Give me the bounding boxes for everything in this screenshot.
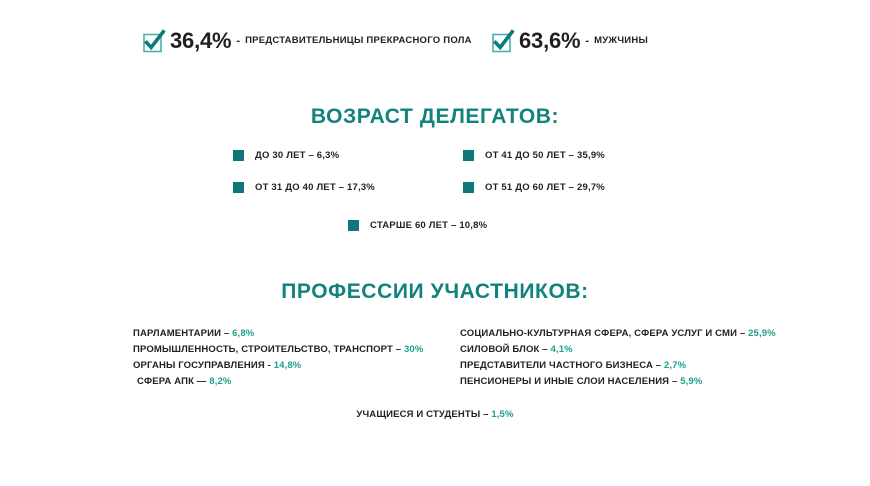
professions-column-right: СОЦИАЛЬНО-КУЛЬТУРНАЯ СФЕРА, СФЕРА УСЛУГ … [460,326,776,390]
section-heading-professions: ПРОФЕССИИ УЧАСТНИКОВ: [0,281,870,302]
profession-list-item: ПРОМЫШЛЕННОСТЬ, СТРОИТЕЛЬСТВО, ТРАНСПОРТ… [133,342,423,358]
bullet-square-icon [233,150,244,161]
bullet-square-icon [348,220,359,231]
checkbox-checked-icon [143,31,164,52]
age-item-label: СТАРШЕ 60 ЛЕТ – 10,8% [370,221,487,231]
gender-item-men: 63,6% - МУЖЧИНЫ [492,30,648,52]
gender-item-women: 36,4% - ПРЕДСТАВИТЕЛЬНИЦЫ ПРЕКРАСНОГО ПО… [143,30,472,52]
age-list-item: ОТ 41 ДО 50 ЛЕТ – 35,9% [463,150,605,161]
profession-list-item: ПРЕДСТАВИТЕЛИ ЧАСТНОГО БИЗНЕСА – 2,7% [460,358,776,374]
profession-name: СИЛОВОЙ БЛОК – [460,344,548,355]
gender-dash-men: - [585,36,589,47]
profession-name: ПЕНСИОНЕРЫ И ИНЫЕ СЛОИ НАСЕЛЕНИЯ – [460,376,677,387]
gender-label-women: ПРЕДСТАВИТЕЛЬНИЦЫ ПРЕКРАСНОГО ПОЛА [245,36,472,46]
age-list-item: СТАРШЕ 60 ЛЕТ – 10,8% [348,220,487,231]
profession-list-item: СОЦИАЛЬНО-КУЛЬТУРНАЯ СФЕРА, СФЕРА УСЛУГ … [460,326,776,342]
gender-dash-women: - [236,36,240,47]
profession-name: ПАРЛАМЕНТАРИИ – [133,328,229,339]
infographic-slide: 36,4% - ПРЕДСТАВИТЕЛЬНИЦЫ ПРЕКРАСНОГО ПО… [0,0,870,486]
gender-percent-men: 63,6% [519,30,580,52]
checkbox-checked-icon [492,31,513,52]
profession-value: 14,8% [274,360,302,371]
profession-value: 1,5% [491,409,513,420]
age-item-label: ОТ 51 ДО 60 ЛЕТ – 29,7% [485,183,605,193]
profession-name: УЧАЩИЕСЯ И СТУДЕНТЫ – [356,409,488,420]
age-distribution-list: ДО 30 ЛЕТ – 6,3% ОТ 31 ДО 40 ЛЕТ – 17,3%… [0,146,870,246]
age-item-label: ДО 30 ЛЕТ – 6,3% [255,151,339,161]
profession-value: 4,1% [551,344,573,355]
age-list-item: ОТ 51 ДО 60 ЛЕТ – 29,7% [463,182,605,193]
age-list-item: ДО 30 ЛЕТ – 6,3% [233,150,339,161]
age-item-label: ОТ 41 ДО 50 ЛЕТ – 35,9% [485,151,605,161]
profession-value: 30% [404,344,423,355]
profession-value: 25,9% [748,328,776,339]
profession-name: ПРЕДСТАВИТЕЛИ ЧАСТНОГО БИЗНЕСА – [460,360,661,371]
profession-name: СОЦИАЛЬНО-КУЛЬТУРНАЯ СФЕРА, СФЕРА УСЛУГ … [460,328,745,339]
gender-percent-women: 36,4% [170,30,231,52]
bullet-square-icon [233,182,244,193]
professions-centered-row: УЧАЩИЕСЯ И СТУДЕНТЫ – 1,5% [0,404,870,423]
professions-column-left: ПАРЛАМЕНТАРИИ – 6,8% ПРОМЫШЛЕННОСТЬ, СТР… [133,326,423,390]
profession-value: 8,2% [209,376,231,387]
profession-value: 2,7% [664,360,686,371]
profession-list-item: УЧАЩИЕСЯ И СТУДЕНТЫ – 1,5% [356,407,513,423]
professions-list: ПАРЛАМЕНТАРИИ – 6,8% ПРОМЫШЛЕННОСТЬ, СТР… [0,326,870,426]
age-list-item: ОТ 31 ДО 40 ЛЕТ – 17,3% [233,182,375,193]
profession-value: 5,9% [680,376,702,387]
profession-list-item: ОРГАНЫ ГОСУПРАВЛЕНИЯ - 14,8% [133,358,423,374]
profession-list-item: ПЕНСИОНЕРЫ И ИНЫЕ СЛОИ НАСЕЛЕНИЯ – 5,9% [460,374,776,390]
gender-label-men: МУЖЧИНЫ [594,36,648,46]
profession-list-item: СФЕРА АПК — 8,2% [133,374,423,390]
profession-value: 6,8% [232,328,254,339]
age-item-label: ОТ 31 ДО 40 ЛЕТ – 17,3% [255,183,375,193]
profession-name: ОРГАНЫ ГОСУПРАВЛЕНИЯ - [133,360,271,371]
profession-name: СФЕРА АПК — [137,376,206,387]
profession-list-item: ПАРЛАМЕНТАРИИ – 6,8% [133,326,423,342]
profession-name: ПРОМЫШЛЕННОСТЬ, СТРОИТЕЛЬСТВО, ТРАНСПОРТ… [133,344,401,355]
profession-list-item: СИЛОВОЙ БЛОК – 4,1% [460,342,776,358]
bullet-square-icon [463,150,474,161]
gender-summary-row: 36,4% - ПРЕДСТАВИТЕЛЬНИЦЫ ПРЕКРАСНОГО ПО… [0,30,870,72]
section-heading-age: ВОЗРАСТ ДЕЛЕГАТОВ: [0,106,870,127]
bullet-square-icon [463,182,474,193]
